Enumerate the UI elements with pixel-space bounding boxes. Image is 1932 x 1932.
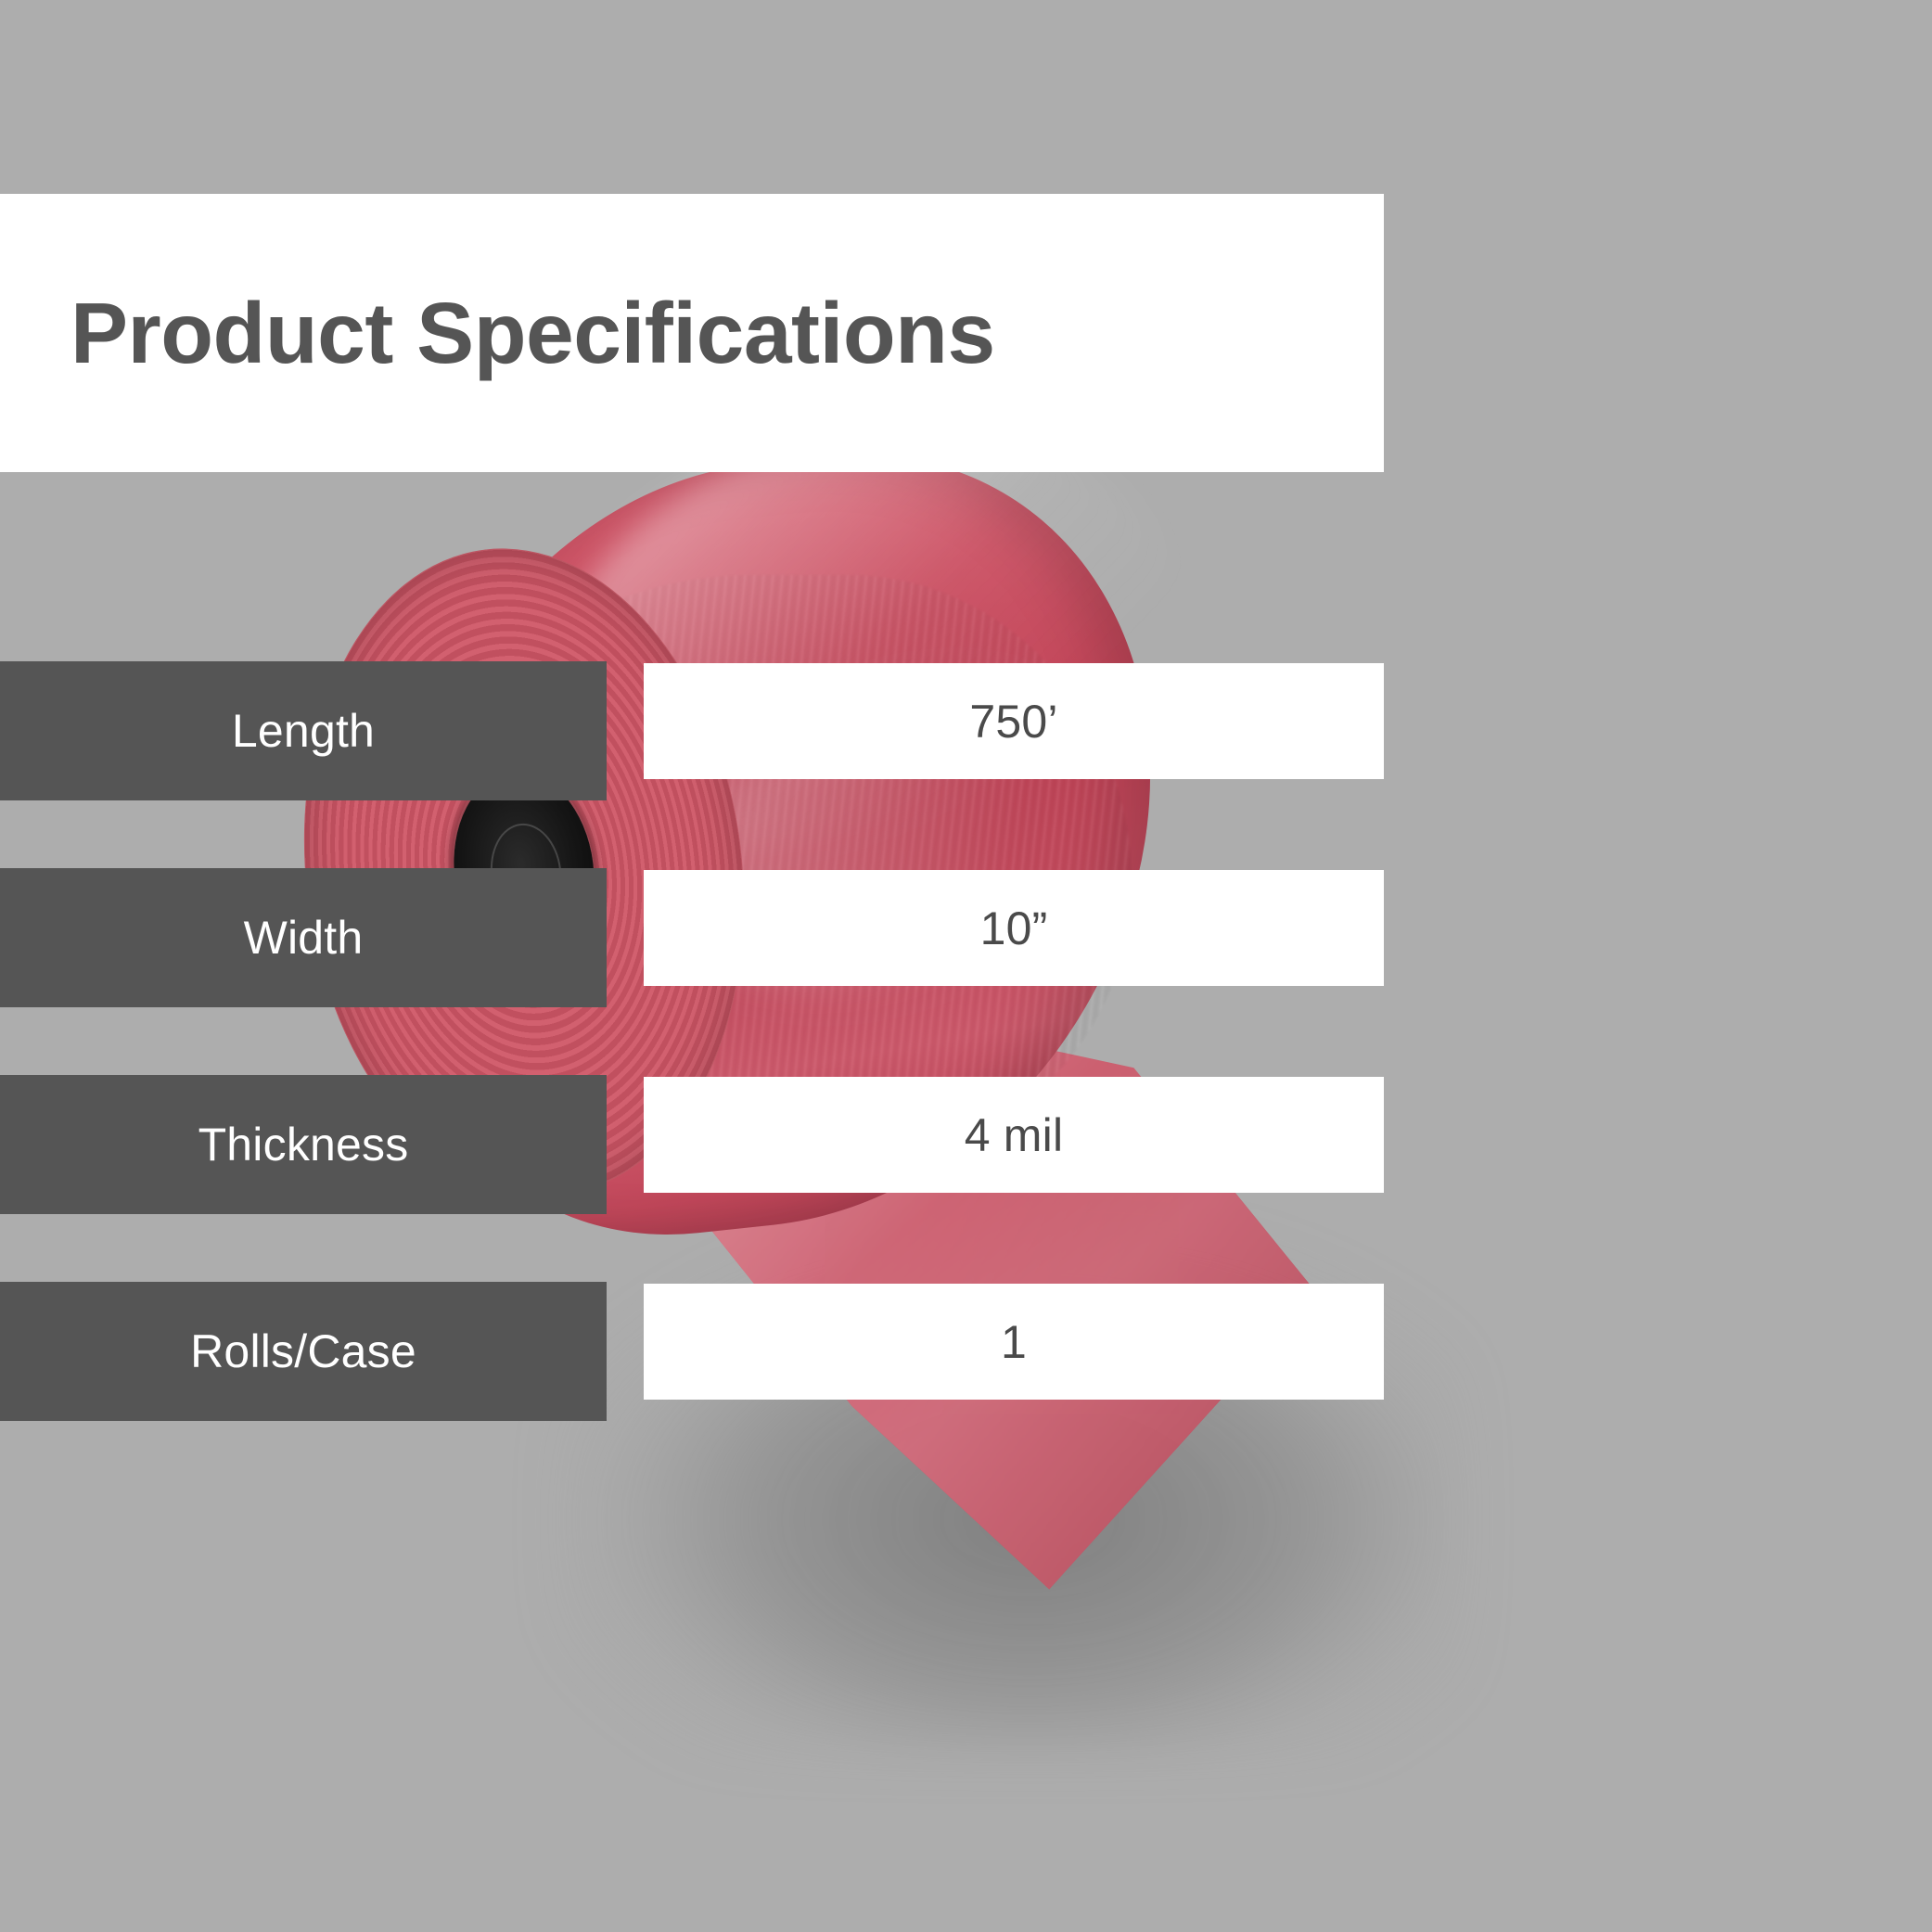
spec-label-length: Length <box>0 661 607 800</box>
spec-row: Length 750’ <box>0 663 1384 779</box>
spec-value-width: 10” <box>644 870 1384 986</box>
spec-label-rolls-per-case: Rolls/Case <box>0 1282 607 1421</box>
spec-value-thickness: 4 mil <box>644 1077 1384 1193</box>
spec-value-rolls-per-case: 1 <box>644 1284 1384 1400</box>
spec-row: Thickness 4 mil <box>0 1077 1384 1193</box>
spec-row: Rolls/Case 1 <box>0 1284 1384 1400</box>
page-title: Product Specifications <box>70 284 995 383</box>
spec-row: Width 10” <box>0 870 1384 986</box>
spec-value-length: 750’ <box>644 663 1384 779</box>
product-spec-card: Product Specifications Length 750’ Width… <box>0 0 1932 1932</box>
spec-label-thickness: Thickness <box>0 1075 607 1214</box>
spec-label-width: Width <box>0 868 607 1007</box>
title-plate: Product Specifications <box>0 194 1384 472</box>
